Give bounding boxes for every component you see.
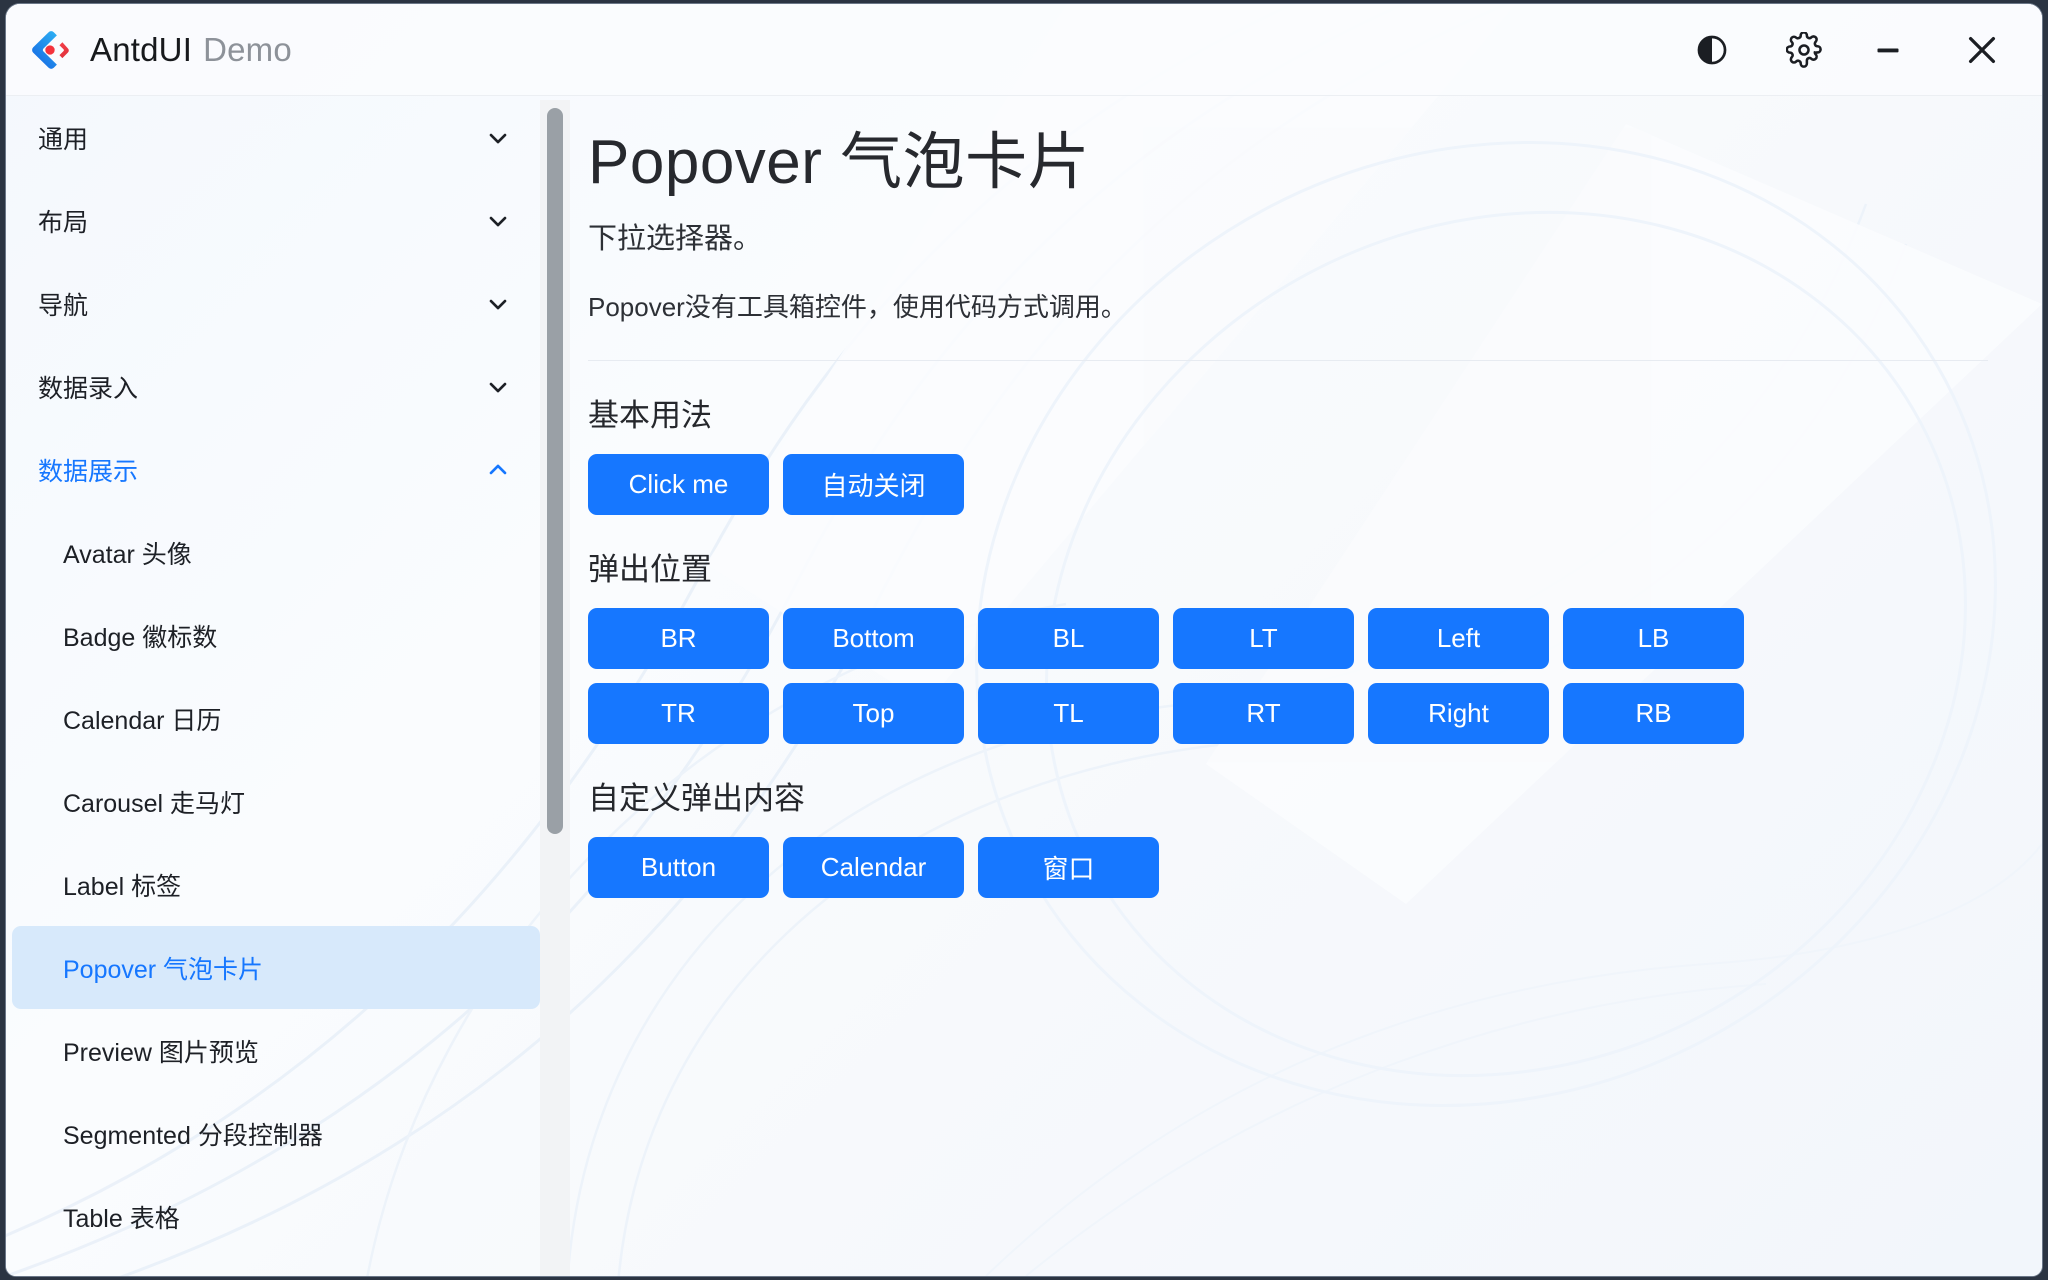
app-title: AntdUIDemo xyxy=(90,31,292,69)
minimize-icon xyxy=(1870,32,1906,68)
sidebar-item-label: Carousel 走马灯 xyxy=(63,784,245,820)
sidebar-group-label: 数据录入 xyxy=(38,369,138,405)
sidebar-item-badge[interactable]: Badge 徽标数 xyxy=(12,594,540,677)
theme-toggle-button[interactable] xyxy=(1670,4,1754,96)
close-icon xyxy=(1961,29,2003,71)
section-title: 弹出位置 xyxy=(588,544,2002,589)
window-controls xyxy=(1670,4,2042,95)
sidebar-group-2[interactable]: 导航 xyxy=(6,262,546,345)
sidebar-item-label: Label 标签 xyxy=(63,867,181,903)
chevron-down-icon[interactable] xyxy=(484,290,512,318)
page-description: Popover没有工具箱控件，使用代码方式调用。 xyxy=(588,287,2002,324)
brand-name: AntdUI xyxy=(90,31,192,68)
brand: AntdUIDemo xyxy=(28,28,292,72)
sidebar-group-3[interactable]: 数据录入 xyxy=(6,345,546,428)
sidebar-group-label: 数据展示 xyxy=(38,452,138,488)
gear-icon xyxy=(1786,32,1822,68)
demo-button-tr[interactable]: TR xyxy=(588,683,769,744)
button-row: ButtonCalendar窗口 xyxy=(588,837,2002,898)
demo-button-button[interactable]: Button xyxy=(588,837,769,898)
button-row: BRBottomBLLTLeftLB xyxy=(588,608,2002,669)
sidebar-group-0[interactable]: 通用 xyxy=(6,96,546,179)
settings-button[interactable] xyxy=(1762,4,1846,96)
demo-button-calendar[interactable]: Calendar xyxy=(783,837,964,898)
demo-button-bl[interactable]: BL xyxy=(978,608,1159,669)
demo-button-top[interactable]: Top xyxy=(783,683,964,744)
sidebar-item-label: Badge 徽标数 xyxy=(63,618,217,654)
demo-button-item[interactable]: 窗口 xyxy=(978,837,1159,898)
button-row: TRTopTLRTRightRB xyxy=(588,683,2002,744)
title-bar: AntdUIDemo xyxy=(6,4,2042,96)
page-subtitle: 下拉选择器。 xyxy=(588,215,2002,257)
antd-logo-icon xyxy=(28,28,72,72)
sidebar-scrollbar-thumb[interactable] xyxy=(547,108,563,834)
demo-button-tl[interactable]: TL xyxy=(978,683,1159,744)
demo-button-br[interactable]: BR xyxy=(588,608,769,669)
contrast-icon xyxy=(1695,33,1729,67)
demo-button-bottom[interactable]: Bottom xyxy=(783,608,964,669)
button-row: Click me自动关闭 xyxy=(588,454,2002,515)
chevron-down-icon[interactable] xyxy=(484,207,512,235)
demo-sections: 基本用法Click me自动关闭弹出位置BRBottomBLLTLeftLBTR… xyxy=(588,390,2002,898)
section-title: 自定义弹出内容 xyxy=(588,773,2002,818)
demo-button-lt[interactable]: LT xyxy=(1173,608,1354,669)
sidebar-item-label: Segmented 分段控制器 xyxy=(63,1116,323,1152)
sidebar-item-segmented[interactable]: Segmented 分段控制器 xyxy=(12,1092,540,1175)
sidebar-item-popover[interactable]: Popover 气泡卡片 xyxy=(12,926,540,1009)
sidebar-item-label: Preview 图片预览 xyxy=(63,1033,259,1069)
chevron-down-icon[interactable] xyxy=(484,124,512,152)
page-title: Popover 气泡卡片 xyxy=(588,126,2002,199)
sidebar-group-4[interactable]: 数据展示 xyxy=(6,428,546,511)
main-content: Popover 气泡卡片 下拉选择器。 Popover没有工具箱控件，使用代码方… xyxy=(572,96,2042,1276)
brand-suffix: Demo xyxy=(203,31,292,68)
section-title: 基本用法 xyxy=(588,390,2002,435)
sidebar-item-calendar[interactable]: Calendar 日历 xyxy=(12,677,540,760)
sidebar[interactable]: 通用布局导航数据录入数据展示Avatar 头像Badge 徽标数Calendar… xyxy=(6,96,546,1276)
chevron-up-icon[interactable] xyxy=(484,456,512,484)
sidebar-group-label: 布局 xyxy=(38,203,88,239)
sidebar-item-label: Popover 气泡卡片 xyxy=(63,950,263,986)
sidebar-item-table[interactable]: Table 表格 xyxy=(12,1175,540,1258)
sidebar-item-label: Table 表格 xyxy=(63,1199,180,1235)
sidebar-item-carousel[interactable]: Carousel 走马灯 xyxy=(12,760,540,843)
close-button[interactable] xyxy=(1940,4,2024,96)
sidebar-item-preview[interactable]: Preview 图片预览 xyxy=(12,1009,540,1092)
minimize-button[interactable] xyxy=(1846,4,1930,96)
app-window: AntdUIDemo xyxy=(6,4,2042,1276)
sidebar-item-avatar[interactable]: Avatar 头像 xyxy=(12,511,540,594)
demo-button-rb[interactable]: RB xyxy=(1563,683,1744,744)
sidebar-item-label[interactable]: Label 标签 xyxy=(12,843,540,926)
content-divider xyxy=(588,360,1988,361)
demo-button-rt[interactable]: RT xyxy=(1173,683,1354,744)
sidebar-item-label: Avatar 头像 xyxy=(63,535,192,571)
sidebar-list: 通用布局导航数据录入数据展示Avatar 头像Badge 徽标数Calendar… xyxy=(6,96,546,1258)
demo-button-item[interactable]: 自动关闭 xyxy=(783,454,964,515)
demo-button-right[interactable]: Right xyxy=(1368,683,1549,744)
demo-button-left[interactable]: Left xyxy=(1368,608,1549,669)
sidebar-group-1[interactable]: 布局 xyxy=(6,179,546,262)
sidebar-group-label: 通用 xyxy=(38,120,88,156)
sidebar-group-label: 导航 xyxy=(38,286,88,322)
demo-button-click[interactable]: Click me xyxy=(588,454,769,515)
sidebar-item-label: Calendar 日历 xyxy=(63,701,221,737)
chevron-down-icon[interactable] xyxy=(484,373,512,401)
demo-button-lb[interactable]: LB xyxy=(1563,608,1744,669)
